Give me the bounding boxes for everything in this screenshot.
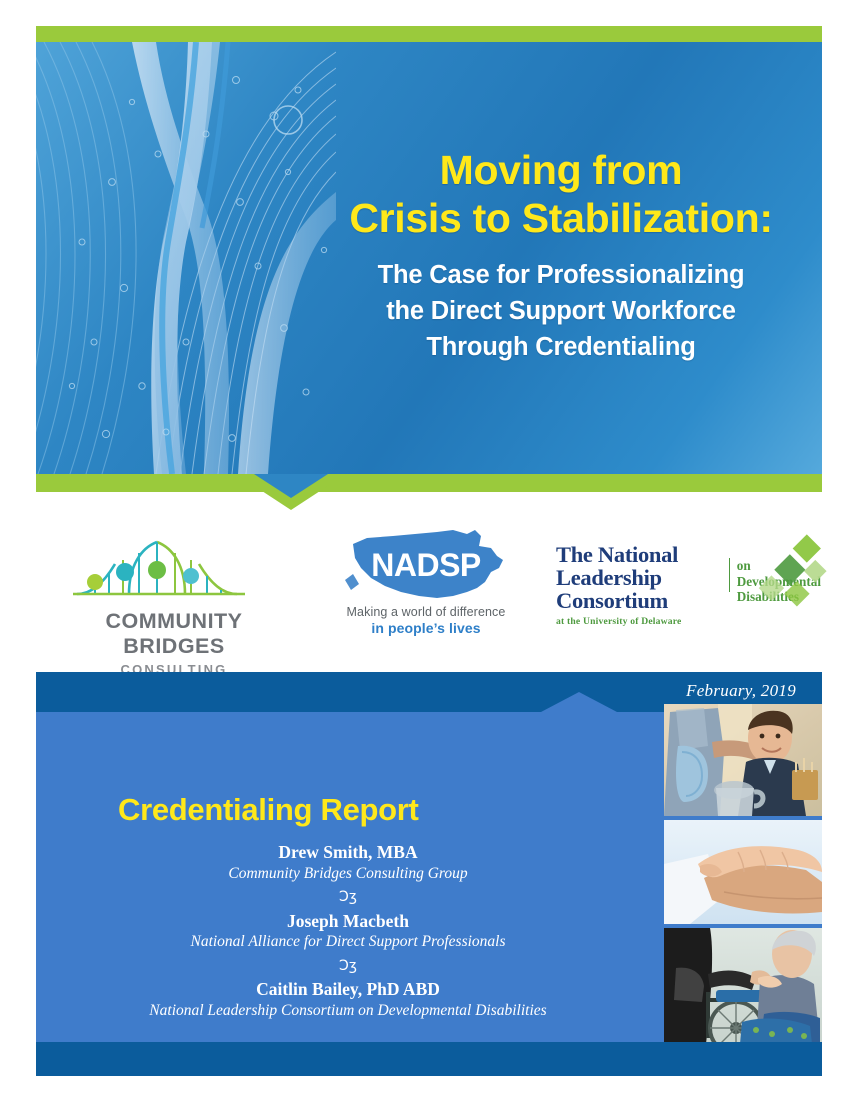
hero-bottom-green-border — [36, 474, 822, 492]
hero-top-green-border — [36, 26, 822, 42]
abstract-tree-artwork — [36, 42, 336, 474]
report-info-panel: February, 2019 Credentialing Report Drew… — [36, 672, 822, 1076]
hero-blue-panel: Moving from Crisis to Stabilization: The… — [36, 42, 822, 474]
author-organization: Community Bridges Consulting Group — [36, 864, 660, 884]
author-entry: Caitlin Bailey, PhD ABD National Leaders… — [36, 979, 660, 1021]
bridge-icon — [69, 536, 279, 602]
nadsp-acronym: NADSP — [341, 547, 511, 584]
ornament-divider: Ↄʒ — [36, 953, 660, 980]
nlc-university: at the University of Delaware — [556, 616, 722, 627]
cover-title-block: Moving from Crisis to Stabilization: The… — [326, 146, 796, 365]
cover-hero-banner: Moving from Crisis to Stabilization: The… — [36, 26, 822, 492]
green-chevron-divider — [236, 474, 346, 510]
author-organization: National Alliance for Direct Support Pro… — [36, 932, 660, 952]
nlc-line-2: Consortium — [556, 590, 722, 613]
navy-bar-notch — [541, 692, 617, 712]
author-name: Joseph Macbeth — [36, 911, 660, 933]
author-organization: National Leadership Consortium on Develo… — [36, 1001, 660, 1021]
title-line-2: Crisis to Stabilization: — [326, 194, 796, 242]
author-entry: Joseph Macbeth National Alliance for Dir… — [36, 911, 660, 980]
national-leadership-consortium-logo: The National Leadership Consortium at th… — [556, 544, 821, 627]
report-heading: Credentialing Report — [118, 792, 419, 828]
subtitle-line-3: Through Credentialing — [326, 329, 796, 365]
author-name: Caitlin Bailey, PhD ABD — [36, 979, 660, 1001]
subtitle-line-1: The Case for Professionalizing — [326, 257, 796, 293]
wheelchair-support-photo — [664, 928, 822, 1044]
ornament-divider: Ↄʒ — [36, 884, 660, 911]
diamond-cluster-icon — [747, 528, 827, 620]
author-name: Drew Smith, MBA — [36, 842, 660, 864]
author-entry: Drew Smith, MBA Community Bridges Consul… — [36, 842, 660, 911]
nlc-divider-rule — [729, 558, 730, 592]
partner-logos-band: COMMUNITY BRIDGES CONSULTING GROUP NADSP… — [36, 520, 822, 660]
photo-strip — [664, 704, 822, 1044]
subtitle-line-2: the Direct Support Workforce — [326, 293, 796, 329]
panel-bottom-navy-bar — [36, 1042, 822, 1076]
community-bridges-name: COMMUNITY BRIDGES — [54, 609, 294, 659]
clasped-hands-photo — [664, 820, 822, 924]
nadsp-logo: NADSP Making a world of difference in pe… — [326, 526, 526, 636]
community-bridges-logo: COMMUNITY BRIDGES CONSULTING GROUP — [54, 536, 294, 692]
subtitle-block: The Case for Professionalizing the Direc… — [326, 257, 796, 366]
publication-date: February, 2019 — [686, 681, 796, 701]
title-line-1: Moving from — [326, 146, 796, 194]
nadsp-tagline-1: Making a world of difference — [326, 605, 526, 619]
man-with-caregiver-photo — [664, 704, 822, 816]
nlc-line-1: The National Leadership — [556, 544, 722, 590]
authors-list: Drew Smith, MBA Community Bridges Consul… — [36, 842, 660, 1021]
nadsp-tagline-2: in people’s lives — [326, 620, 526, 636]
